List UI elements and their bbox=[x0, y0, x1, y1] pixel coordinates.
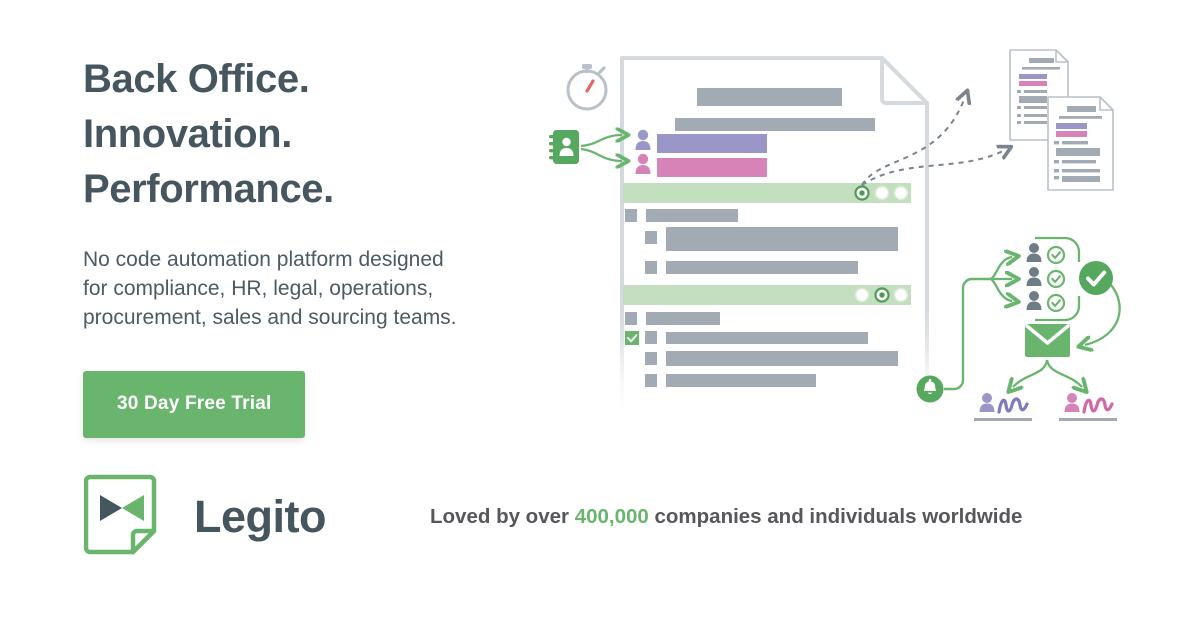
hero-subhead: No code automation platform designed for… bbox=[83, 245, 553, 332]
tagline-prefix: Loved by over bbox=[430, 505, 575, 528]
signature-purple bbox=[974, 393, 1032, 421]
headline-line-1: Back Office. bbox=[83, 57, 309, 101]
tagline-suffix: companies and individuals worldwide bbox=[649, 505, 1023, 528]
contact-to-person-arrows bbox=[581, 135, 622, 161]
doc-title-bar bbox=[697, 88, 842, 106]
brand-name: Legito bbox=[194, 491, 326, 543]
page-title: Back Office. Innovation. Performance. bbox=[83, 52, 553, 217]
free-trial-button[interactable]: 30 Day Free Trial bbox=[83, 371, 305, 438]
address-book-icon bbox=[549, 130, 579, 164]
envelope-icon bbox=[1025, 324, 1070, 357]
checked-checkbox-icon[interactable] bbox=[625, 331, 639, 345]
tagline-count: 400,000 bbox=[575, 505, 649, 528]
envelope-to-signature-arrows bbox=[1013, 360, 1082, 387]
approver-3 bbox=[1027, 291, 1065, 311]
green-radio-row-1[interactable] bbox=[623, 183, 911, 203]
approval-check-icon bbox=[1079, 261, 1113, 295]
doc-subtitle-bar bbox=[675, 118, 875, 131]
stopwatch-icon bbox=[568, 64, 606, 109]
signature-pink bbox=[1059, 393, 1117, 421]
brand-logo[interactable]: Legito bbox=[84, 470, 326, 563]
social-proof-tagline: Loved by over 400,000 companies and indi… bbox=[430, 505, 1022, 529]
subhead-line-3: procurement, sales and sourcing teams. bbox=[83, 306, 457, 329]
back-office-automation-workflow-diagram bbox=[540, 35, 1160, 425]
subhead-line-1: No code automation platform designed bbox=[83, 248, 444, 271]
marketing-banner: Back Office. Innovation. Performance. No… bbox=[0, 0, 1200, 627]
green-radio-row-2[interactable] bbox=[623, 285, 911, 305]
approver-2 bbox=[1027, 267, 1065, 287]
legito-document-bowtie-logo-icon bbox=[84, 470, 172, 563]
approval-to-envelope-arrow bbox=[1085, 285, 1120, 345]
approver-1 bbox=[1027, 243, 1065, 263]
subhead-line-2: for compliance, HR, legal, operations, bbox=[83, 277, 433, 300]
headline-line-2: Innovation. bbox=[83, 112, 292, 156]
approver-fanout-arrows bbox=[990, 257, 1012, 301]
notification-bell-icon[interactable] bbox=[917, 376, 944, 403]
generated-document-2[interactable] bbox=[1048, 97, 1113, 190]
hero-text-column: Back Office. Innovation. Performance. No… bbox=[83, 52, 553, 438]
headline-line-3: Performance. bbox=[83, 167, 334, 211]
bell-to-approvers-connector bbox=[944, 279, 990, 389]
